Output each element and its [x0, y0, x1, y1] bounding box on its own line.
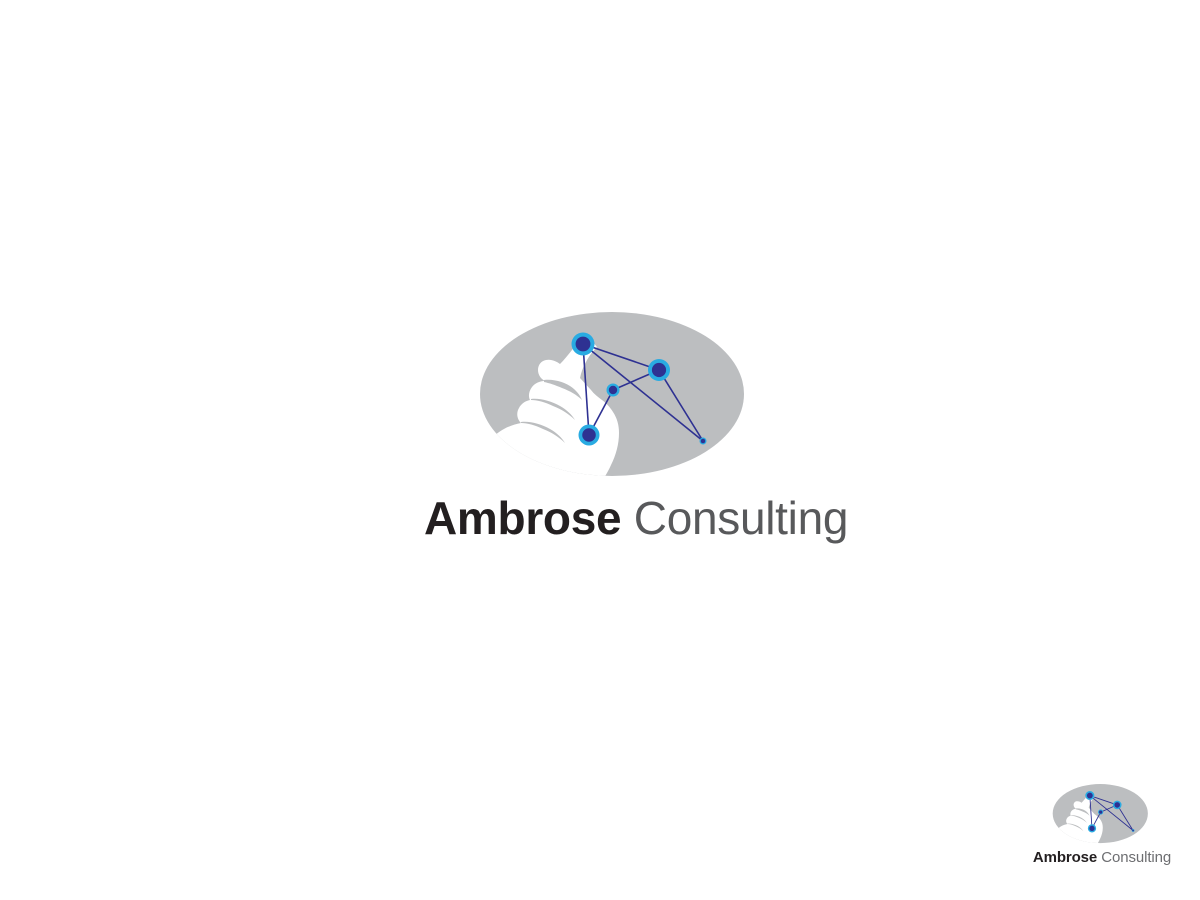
edge-c-b	[613, 370, 659, 390]
wordmark-secondary: Consulting	[634, 492, 848, 544]
corner-node-c	[1098, 810, 1103, 815]
node-d	[579, 425, 600, 446]
corner-node-a	[1085, 791, 1094, 800]
corner-node-e	[1132, 829, 1135, 832]
ellipse-backdrop	[480, 312, 744, 476]
logo-wordmark: Ambrose Consulting	[424, 490, 804, 546]
logo-mark	[480, 312, 748, 484]
logo-stage: Ambrose Consulting	[424, 312, 804, 552]
edge-a-b	[583, 344, 659, 370]
edge-a-d	[583, 344, 589, 435]
edge-c-d	[589, 390, 613, 435]
corner-node-d	[1088, 824, 1096, 832]
network-edges	[583, 344, 703, 441]
node-a	[572, 333, 595, 356]
main-logo-lockup: Ambrose Consulting	[0, 0, 1200, 900]
network-hand-emblem-svg	[480, 312, 748, 484]
corner-wordmark-secondary: Consulting	[1101, 849, 1171, 866]
network-nodes	[572, 333, 707, 446]
corner-network-hand-emblem-svg	[1052, 784, 1150, 846]
edge-b-e	[659, 370, 703, 441]
corner-logo-mark	[1052, 784, 1150, 846]
hand-silhouette	[468, 331, 619, 484]
corner-node-b	[1113, 801, 1122, 810]
corner-logo-lockup: Ambrose Consulting	[1028, 784, 1176, 872]
edge-a-e	[583, 344, 703, 441]
corner-wordmark-primary: Ambrose	[1033, 849, 1097, 866]
wordmark-space	[621, 492, 633, 544]
wordmark-primary: Ambrose	[424, 492, 621, 544]
node-c	[607, 384, 620, 397]
node-b	[648, 359, 670, 381]
node-e	[700, 438, 707, 445]
corner-logo-wordmark: Ambrose Consulting	[1028, 848, 1176, 868]
